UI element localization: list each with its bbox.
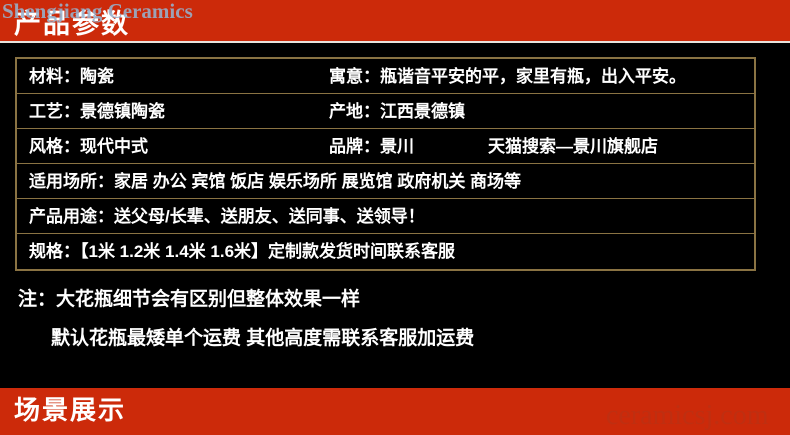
spec-value: 景川 xyxy=(380,137,414,156)
notes-block: 注：大花瓶细节会有区别但整体效果一样 默认花瓶最矮单个运费 其他高度需联系客服加… xyxy=(18,290,758,368)
spec-value: 瓶谐音平安的平，家里有瓶，出入平安。 xyxy=(380,67,686,86)
section-header-title: 场景展示 xyxy=(14,397,126,423)
spec-cell-brand: 品牌：景川天猫搜索—景川旗舰店 xyxy=(329,138,754,155)
spec-label: 产品用途： xyxy=(29,207,114,226)
spec-cell-meaning: 寓意：瓶谐音平安的平，家里有瓶，出入平安。 xyxy=(329,68,754,85)
spec-label: 寓意： xyxy=(329,67,380,86)
note-line-1: 注：大花瓶细节会有区别但整体效果一样 xyxy=(18,290,758,309)
table-row: 材料：陶瓷 寓意：瓶谐音平安的平，家里有瓶，出入平安。 xyxy=(17,59,754,94)
spec-cell-size: 规格：【1米 1.2米 1.4米 1.6米】定制款发货时间联系客服 xyxy=(29,243,754,260)
specification-table: 材料：陶瓷 寓意：瓶谐音平安的平，家里有瓶，出入平安。 工艺：景德镇陶瓷 产地：… xyxy=(15,57,756,271)
table-row: 适用场所：家居 办公 宾馆 饭店 娱乐场所 展览馆 政府机关 商场等 xyxy=(17,164,754,199)
spec-value: 陶瓷 xyxy=(80,67,114,86)
spec-cell-material: 材料：陶瓷 xyxy=(29,68,329,85)
spec-value-store: 天猫搜索—景川旗舰店 xyxy=(488,137,658,156)
table-row: 规格：【1米 1.2米 1.4米 1.6米】定制款发货时间联系客服 xyxy=(17,234,754,269)
table-row: 风格：现代中式 品牌：景川天猫搜索—景川旗舰店 xyxy=(17,129,754,164)
spec-value: 送父母/长辈、送朋友、送同事、送领导！ xyxy=(114,207,425,226)
spec-value: 家居 办公 宾馆 饭店 娱乐场所 展览馆 政府机关 商场等 xyxy=(114,172,521,191)
spec-label: 材料： xyxy=(29,67,80,86)
spec-cell-origin: 产地：江西景德镇 xyxy=(329,103,754,120)
spec-label: 品牌： xyxy=(329,137,380,156)
spec-label: 适用场所： xyxy=(29,172,114,191)
spec-cell-craft: 工艺：景德镇陶瓷 xyxy=(29,103,329,120)
spec-value: 现代中式 xyxy=(80,137,148,156)
note-line-2: 默认花瓶最矮单个运费 其他高度需联系客服加运费 xyxy=(18,329,758,348)
spec-cell-usage-places: 适用场所：家居 办公 宾馆 饭店 娱乐场所 展览馆 政府机关 商场等 xyxy=(29,173,754,190)
spec-cell-style: 风格：现代中式 xyxy=(29,138,329,155)
spec-value: 景德镇陶瓷 xyxy=(80,102,165,121)
spec-label: 工艺： xyxy=(29,102,80,121)
spec-label: 风格： xyxy=(29,137,80,156)
table-row: 产品用途：送父母/长辈、送朋友、送同事、送领导！ xyxy=(17,199,754,234)
spec-value: 江西景德镇 xyxy=(380,102,465,121)
table-row: 工艺：景德镇陶瓷 产地：江西景德镇 xyxy=(17,94,754,129)
brand-watermark: Shengjiang Ceramics xyxy=(2,1,193,22)
site-watermark: ceramicsj.com xyxy=(606,402,768,430)
product-spec-page: 产品参数 Shengjiang Ceramics 材料：陶瓷 寓意：瓶谐音平安的… xyxy=(0,0,790,435)
spec-label: 产地： xyxy=(329,102,380,121)
spec-label: 规格： xyxy=(29,242,80,261)
spec-cell-product-purpose: 产品用途：送父母/长辈、送朋友、送同事、送领导！ xyxy=(29,208,754,225)
spec-value: 【1米 1.2米 1.4米 1.6米】定制款发货时间联系客服 xyxy=(80,242,455,261)
